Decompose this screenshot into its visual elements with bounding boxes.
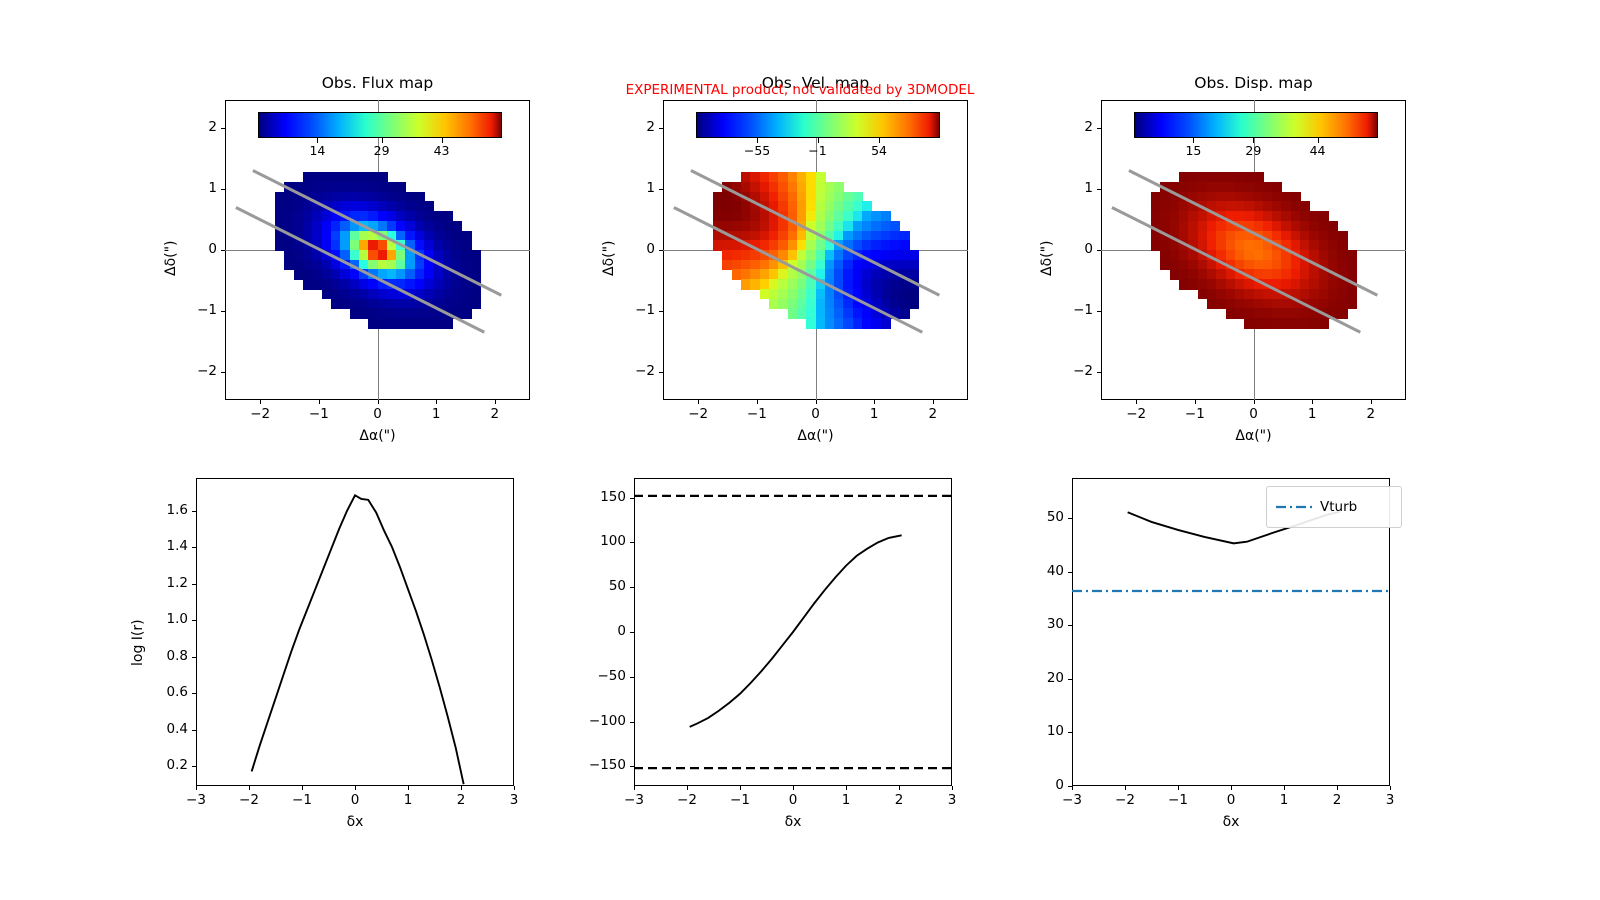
y-tickmark (192, 657, 196, 658)
x-tick-label: −2 (1101, 792, 1149, 808)
x-tickmark (319, 400, 320, 404)
x-tickmark (874, 400, 875, 404)
legend-label-vturb: Vturb (1320, 499, 1357, 515)
profile-ylabel-flux-profile: log I(r) (130, 619, 146, 666)
map-pixel (881, 318, 891, 328)
y-tick-label: 50 (1018, 509, 1064, 525)
y-tick-label: 100 (580, 533, 626, 549)
x-tick-label: −2 (663, 792, 711, 808)
legend-line-swatch (1276, 504, 1312, 510)
x-tickmark (514, 786, 515, 790)
x-tick-label: 1 (1288, 406, 1336, 422)
y-tick-label: −150 (580, 757, 626, 773)
map-pixel (443, 318, 453, 328)
x-tickmark (757, 400, 758, 404)
y-tickmark (659, 250, 663, 251)
x-tick-label: −2 (674, 406, 722, 422)
x-tick-label: 2 (1347, 406, 1395, 422)
colorbar-tick-label: 29 (356, 143, 408, 158)
map-ylabel-velocity: Δδ(") (601, 240, 617, 276)
y-tick-label: 0.4 (142, 721, 188, 737)
colorbar-tick-label: 15 (1167, 143, 1219, 158)
map-pixel (899, 308, 909, 318)
map-pixel (461, 308, 471, 318)
y-tickmark (1068, 732, 1072, 733)
y-tickmark (192, 766, 196, 767)
y-tickmark (221, 372, 225, 373)
y-tick-label: −2 (613, 363, 655, 379)
y-tick-label: −1 (1051, 302, 1093, 318)
profile-plot-area-flux-profile (196, 478, 514, 786)
y-tick-label: 150 (580, 489, 626, 505)
x-tickmark (436, 400, 437, 404)
y-tickmark (192, 620, 196, 621)
y-tickmark (192, 584, 196, 585)
y-tickmark (659, 189, 663, 190)
x-tickmark (196, 786, 197, 790)
colorbar-tick-label: −55 (731, 143, 783, 158)
x-tick-label: −1 (716, 792, 764, 808)
x-tickmark (1312, 400, 1313, 404)
x-tickmark (698, 400, 699, 404)
y-tick-label: −2 (1051, 363, 1093, 379)
x-tickmark (1136, 400, 1137, 404)
x-tickmark (952, 786, 953, 790)
y-tickmark (1097, 128, 1101, 129)
y-tickmark (192, 547, 196, 548)
x-tickmark (1390, 786, 1391, 790)
map-title-flux: Obs. Flux map (165, 74, 590, 92)
profile-xlabel-velocity-profile: δx (634, 814, 952, 830)
x-tickmark (793, 786, 794, 790)
x-tick-label: 0 (769, 792, 817, 808)
y-tickmark (630, 587, 634, 588)
y-tick-label: −1 (613, 302, 655, 318)
y-tickmark (1068, 572, 1072, 573)
y-tick-label: 1.6 (142, 502, 188, 518)
x-tick-label: −2 (1112, 406, 1160, 422)
y-tick-label: 20 (1018, 670, 1064, 686)
y-tick-label: 2 (1051, 119, 1093, 135)
y-tickmark (221, 128, 225, 129)
y-tick-label: 0 (1018, 777, 1064, 793)
y-tick-label: 0 (613, 241, 655, 257)
colorbar-tick-label: 43 (416, 143, 468, 158)
map-xlabel-flux: Δα(") (225, 428, 530, 444)
x-tick-label: 0 (792, 406, 840, 422)
y-tick-label: 30 (1018, 616, 1064, 632)
x-tickmark (740, 786, 741, 790)
y-tick-label: 50 (580, 578, 626, 594)
x-tick-label: −3 (172, 792, 220, 808)
profile-xlabel-dispersion-profile: δx (1072, 814, 1390, 830)
x-tickmark (1371, 400, 1372, 404)
y-tickmark (1068, 786, 1072, 787)
y-tickmark (192, 730, 196, 731)
y-tickmark (1068, 518, 1072, 519)
y-tick-label: 0.6 (142, 684, 188, 700)
x-tick-label: −1 (1154, 792, 1202, 808)
y-tickmark (630, 542, 634, 543)
x-tick-label: 3 (1366, 792, 1414, 808)
x-tick-label: −2 (236, 406, 284, 422)
map-ylabel-flux: Δδ(") (163, 240, 179, 276)
experimental-warning-text: EXPERIMENTAL product, not validated by 3… (530, 82, 1070, 98)
x-tickmark (1231, 786, 1232, 790)
x-tick-label: 1 (1260, 792, 1308, 808)
y-tickmark (630, 722, 634, 723)
map-xlabel-velocity: Δα(") (663, 428, 968, 444)
x-tickmark (408, 786, 409, 790)
x-tick-label: −3 (1048, 792, 1096, 808)
y-tickmark (659, 128, 663, 129)
x-tickmark (249, 786, 250, 790)
y-tick-label: 0.2 (142, 757, 188, 773)
colorbar-flux (258, 112, 502, 138)
x-tickmark (1337, 786, 1338, 790)
y-tick-label: −1 (175, 302, 217, 318)
x-tickmark (1284, 786, 1285, 790)
map-ylabel-dispersion: Δδ(") (1039, 240, 1055, 276)
y-tickmark (630, 766, 634, 767)
x-tickmark (1072, 786, 1073, 790)
x-tickmark (355, 786, 356, 790)
x-tickmark (816, 400, 817, 404)
x-tick-label: −1 (278, 792, 326, 808)
x-tick-label: 3 (928, 792, 976, 808)
x-tickmark (1125, 786, 1126, 790)
y-tickmark (1097, 311, 1101, 312)
profile-series-log I(r) (252, 495, 464, 784)
x-tick-label: 2 (909, 406, 957, 422)
x-tickmark (461, 786, 462, 790)
x-tickmark (302, 786, 303, 790)
x-tickmark (495, 400, 496, 404)
y-tickmark (1097, 250, 1101, 251)
map-pixel (1319, 318, 1329, 328)
profile-xlabel-flux-profile: δx (196, 814, 514, 830)
map-pixel (1337, 308, 1347, 318)
x-tick-label: −1 (295, 406, 343, 422)
x-tickmark (899, 786, 900, 790)
y-tick-label: −100 (580, 713, 626, 729)
y-tickmark (659, 372, 663, 373)
y-tickmark (1068, 625, 1072, 626)
y-tick-label: 0.8 (142, 648, 188, 664)
colorbar-tick-label: 44 (1292, 143, 1344, 158)
x-tick-label: −1 (1171, 406, 1219, 422)
y-tickmark (630, 677, 634, 678)
colorbar-tick-label: −1 (792, 143, 844, 158)
y-tickmark (630, 498, 634, 499)
colorbar-tick-label: 54 (853, 143, 905, 158)
y-tick-label: 2 (613, 119, 655, 135)
y-tickmark (1097, 372, 1101, 373)
y-tickmark (221, 311, 225, 312)
colorbar-tick-label: 14 (291, 143, 343, 158)
y-tick-label: 0 (580, 623, 626, 639)
x-tick-label: 2 (437, 792, 485, 808)
x-tickmark (1254, 400, 1255, 404)
x-tickmark (846, 786, 847, 790)
legend-box[interactable]: Vturb (1266, 486, 1402, 528)
colorbar-velocity (696, 112, 940, 138)
y-tick-label: −50 (580, 668, 626, 684)
y-tick-label: 1 (613, 180, 655, 196)
y-tickmark (630, 632, 634, 633)
y-tickmark (221, 250, 225, 251)
y-tick-label: 1 (175, 180, 217, 196)
y-tick-label: 1.2 (142, 575, 188, 591)
y-tickmark (221, 189, 225, 190)
x-tick-label: 0 (354, 406, 402, 422)
x-tick-label: 1 (384, 792, 432, 808)
y-tickmark (1097, 189, 1101, 190)
y-tick-label: 40 (1018, 563, 1064, 579)
x-tick-label: 2 (1313, 792, 1361, 808)
x-tickmark (378, 400, 379, 404)
y-tickmark (1068, 679, 1072, 680)
x-tick-label: 2 (875, 792, 923, 808)
y-tickmark (192, 511, 196, 512)
y-tick-label: 1.0 (142, 611, 188, 627)
x-tickmark (1178, 786, 1179, 790)
x-tick-label: 1 (822, 792, 870, 808)
colorbar-dispersion (1134, 112, 1378, 138)
x-tickmark (260, 400, 261, 404)
y-tick-label: 1 (1051, 180, 1093, 196)
x-tick-label: 0 (1207, 792, 1255, 808)
x-tickmark (634, 786, 635, 790)
x-tick-label: 0 (1230, 406, 1278, 422)
y-tick-label: 10 (1018, 723, 1064, 739)
x-tick-label: −1 (733, 406, 781, 422)
y-tickmark (659, 311, 663, 312)
x-tick-label: 2 (471, 406, 519, 422)
x-tickmark (933, 400, 934, 404)
y-tick-label: 2 (175, 119, 217, 135)
profile-plot-area-velocity-profile (634, 478, 952, 786)
map-pixel (909, 299, 919, 309)
colorbar-tick-label: 29 (1227, 143, 1279, 158)
map-pixel (1347, 299, 1357, 309)
y-tick-label: 0 (1051, 241, 1093, 257)
x-tick-label: −3 (610, 792, 658, 808)
map-pixel (471, 299, 481, 309)
y-tick-label: 0 (175, 241, 217, 257)
y-tick-label: −2 (175, 363, 217, 379)
profile-series-Vrot (690, 535, 902, 727)
x-tick-label: 1 (412, 406, 460, 422)
y-tickmark (192, 693, 196, 694)
x-tick-label: −2 (225, 792, 273, 808)
x-tick-label: 0 (331, 792, 379, 808)
x-tick-label: 1 (850, 406, 898, 422)
figure-canvas: EXPERIMENTAL product, not validated by 3… (0, 0, 1600, 900)
map-title-dispersion: Obs. Disp. map (1041, 74, 1466, 92)
map-xlabel-dispersion: Δα(") (1101, 428, 1406, 444)
x-tickmark (1195, 400, 1196, 404)
x-tick-label: 3 (490, 792, 538, 808)
x-tickmark (687, 786, 688, 790)
y-tick-label: 1.4 (142, 538, 188, 554)
